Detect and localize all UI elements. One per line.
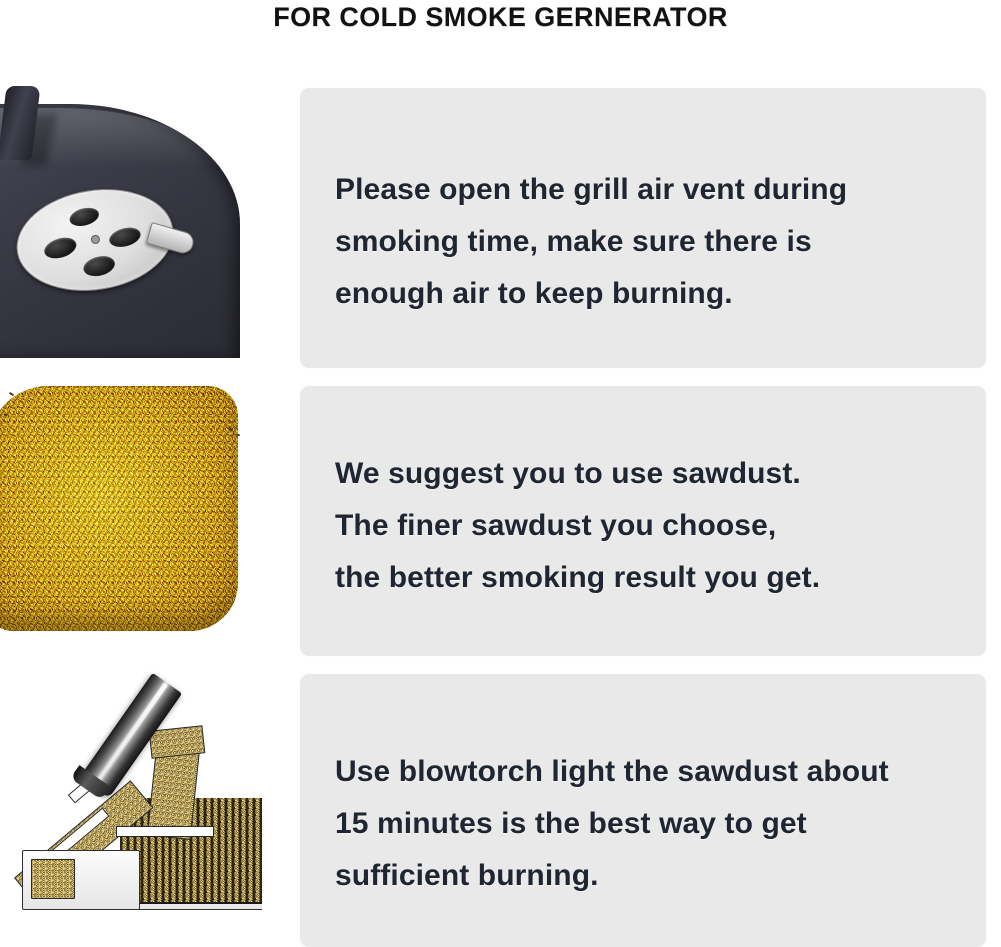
instruction-line: Please open the grill air vent during xyxy=(335,164,964,216)
photo-grill-lid-air-vent xyxy=(0,86,245,358)
vent-hole-icon xyxy=(42,234,79,262)
instruction-line: The finer sawdust you choose, xyxy=(335,500,964,552)
instruction-line: the better smoking result you get. xyxy=(335,552,964,604)
photo-blowtorch-lighting-sawdust xyxy=(0,658,262,947)
sawdust-speck xyxy=(236,434,240,437)
sawdust-pile xyxy=(0,386,238,631)
vent-hole-icon xyxy=(81,253,117,279)
instruction-panel-1-text: Please open the grill air vent during sm… xyxy=(335,164,964,320)
instruction-line: We suggest you to use sawdust. xyxy=(335,448,964,500)
smoke-generator-tray-left xyxy=(22,850,140,910)
instruction-panel-2: We suggest you to use sawdust. The finer… xyxy=(300,386,986,656)
vent-pivot-screw xyxy=(90,234,100,244)
instruction-line: smoking time, make sure there is xyxy=(335,216,964,268)
sawdust-maze-arm-right-top xyxy=(149,725,206,758)
photo-sawdust-pile xyxy=(0,372,245,650)
maze-divider-wall xyxy=(116,826,214,837)
instruction-panel-1: Please open the grill air vent during sm… xyxy=(300,88,986,368)
instruction-infographic: FOR COLD SMOKE GERNERATOR xyxy=(0,0,1001,947)
sawdust-speck xyxy=(9,392,14,396)
vent-hole-icon xyxy=(107,224,143,250)
instruction-panel-3-text: Use blowtorch light the sawdust about 15… xyxy=(335,746,964,902)
instruction-line: enough air to keep burning. xyxy=(335,268,964,320)
tray-sawdust-window xyxy=(31,859,75,899)
vent-hole-icon xyxy=(68,205,101,229)
instruction-line: sufficient burning. xyxy=(335,850,964,902)
instruction-line: Use blowtorch light the sawdust about xyxy=(335,746,964,798)
instruction-line: 15 minutes is the best way to get xyxy=(335,798,964,850)
instruction-panel-3: Use blowtorch light the sawdust about 15… xyxy=(300,674,986,947)
instruction-panel-2-text: We suggest you to use sawdust. The finer… xyxy=(335,448,964,604)
page-title: FOR COLD SMOKE GERNERATOR xyxy=(0,2,1001,33)
